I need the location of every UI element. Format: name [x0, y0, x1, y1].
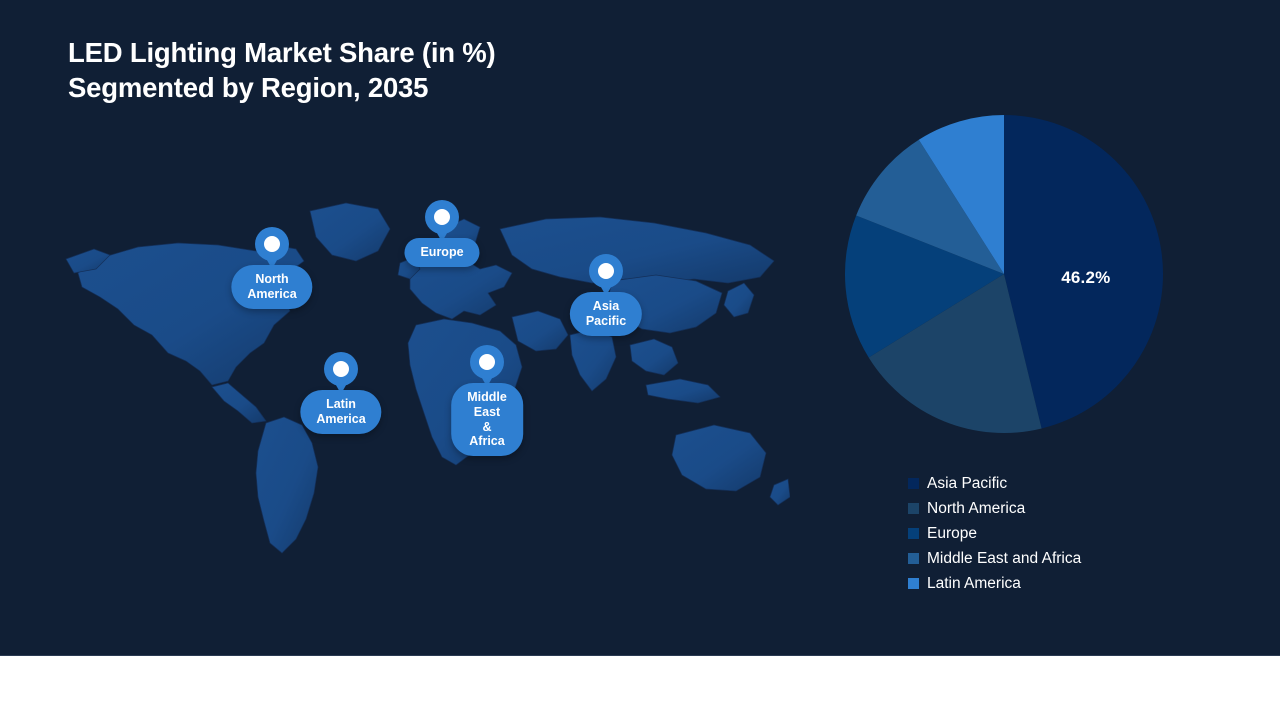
footer-bar: Web: www.researchnester.com | Mob: +1 64… [0, 656, 1280, 720]
legend-swatch-icon [908, 578, 919, 589]
location-pin-icon [589, 254, 623, 288]
legend-swatch-icon [908, 478, 919, 489]
legend-item-latin-america[interactable]: Latin America [908, 576, 1081, 592]
legend-label: Latin America [927, 576, 1021, 592]
legend-item-asia-pacific[interactable]: Asia Pacific [908, 476, 1081, 492]
legend-item-middle-east-and-africa[interactable]: Middle East and Africa [908, 551, 1081, 567]
legend-item-europe[interactable]: Europe [908, 526, 1081, 542]
location-pin-icon [255, 227, 289, 261]
legend-swatch-icon [908, 553, 919, 564]
chart-legend: Asia Pacific North America Europe Middle… [908, 476, 1081, 601]
pie-chart: 46.2% [818, 88, 1190, 460]
location-pin-icon [324, 352, 358, 386]
legend-label: North America [927, 501, 1025, 517]
legend-label: Europe [927, 526, 977, 542]
infographic-slide: LED Lighting Market Share (in %) Segment… [0, 0, 1280, 720]
legend-swatch-icon [908, 503, 919, 514]
legend-item-north-america[interactable]: North America [908, 501, 1081, 517]
page-title: LED Lighting Market Share (in %) Segment… [68, 36, 496, 105]
location-pin-icon [470, 345, 504, 379]
map-pin-label-europe: Europe [404, 238, 479, 267]
pie-svg [845, 115, 1163, 433]
legend-swatch-icon [908, 528, 919, 539]
map-pin-label-latin-america: Latin America [300, 390, 381, 434]
map-pin-label-middle-east-africa: Middle East & Africa [451, 383, 523, 456]
world-map: North America Europe Asia Pacific Latin … [60, 185, 790, 585]
pie-slices [845, 115, 1163, 433]
location-pin-icon [425, 200, 459, 234]
legend-label: Asia Pacific [927, 476, 1007, 492]
legend-label: Middle East and Africa [927, 551, 1081, 567]
map-pin-label-asia-pacific: Asia Pacific [570, 292, 642, 336]
map-pin-label-north-america: North America [231, 265, 312, 309]
